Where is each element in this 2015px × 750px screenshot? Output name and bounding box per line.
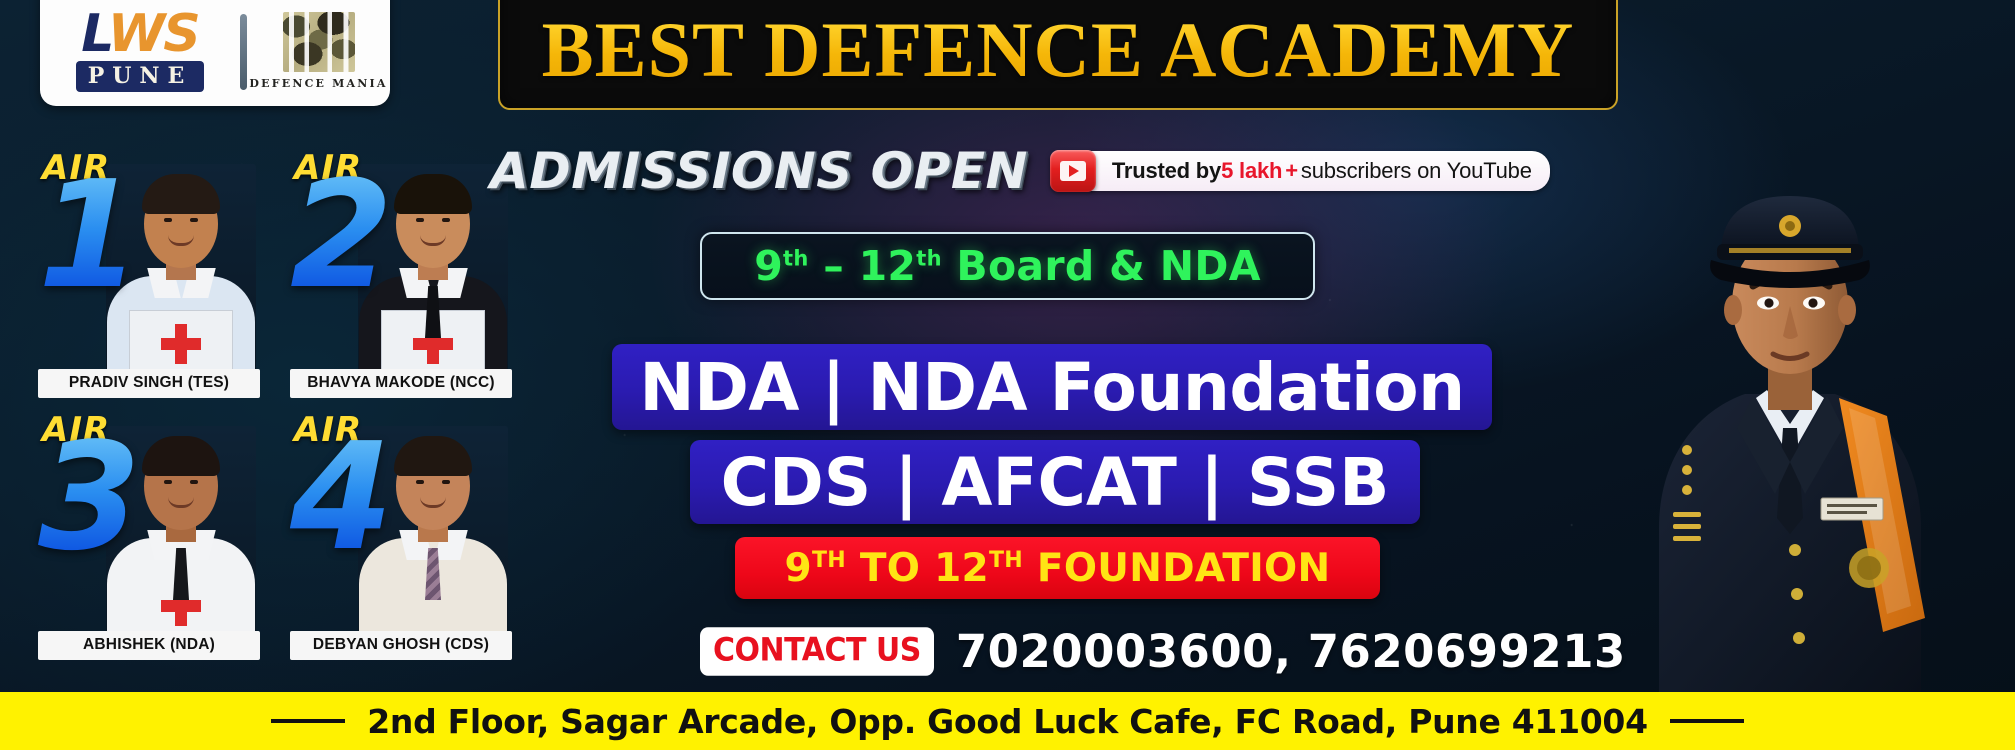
yt-suffix: subscribers on YouTube — [1301, 158, 1532, 184]
youtube-play-icon — [1050, 150, 1096, 192]
course-bar-nda-text: NDA | NDA Foundation — [639, 349, 1464, 426]
lws-city-plate: PUNE — [76, 61, 205, 92]
lws-letters-ws: WS — [108, 4, 199, 64]
foundation-grade-from-suffix: TH — [812, 548, 846, 573]
contact-us-label: CONTACT US — [700, 627, 934, 676]
topper-name: BHAVYA MAKODE (NCC) — [290, 369, 512, 398]
topper-name: DEBYAN GHOSH (CDS) — [290, 631, 512, 660]
air-rank-number: 2 — [290, 172, 393, 299]
board-nda-bar: 9th – 12th Board & NDA — [700, 232, 1315, 300]
yt-prefix: Trusted by — [1112, 158, 1221, 184]
page-title: BEST DEFENCE ACADEMY — [542, 0, 1575, 95]
defence-mania-logo: DEFENCE MANIA — [247, 0, 390, 106]
youtube-trust-badge: Trusted by 5 lakh+ subscribers on YouTub… — [1050, 148, 1550, 194]
logo-panel: LWS PUNE DEFENCE MANIA — [40, 0, 390, 106]
grade-from: 9 — [754, 242, 783, 290]
course-bar-nda: NDA | NDA Foundation — [612, 344, 1492, 430]
air-rank-card: AIR 4 DEBYAN GHOSH (CDS) — [276, 410, 514, 660]
headline-box: BEST DEFENCE ACADEMY — [498, 0, 1618, 110]
foundation-grade-from: 9 — [785, 546, 812, 591]
address-strip: 2nd Floor, Sagar Arcade, Opp. Good Luck … — [0, 692, 2015, 750]
board-nda-text: 9th – 12th Board & NDA — [754, 242, 1261, 290]
foundation-tail: FOUNDATION — [1023, 546, 1330, 591]
foundation-grade-to-suffix: TH — [989, 548, 1023, 573]
grade-to: 12 — [859, 242, 917, 290]
foundation-bar-text: 9TH TO 12TH FOUNDATION — [785, 546, 1331, 591]
grade-dash: – — [809, 242, 859, 290]
foundation-mid: TO — [846, 546, 934, 591]
cadet-officer-photo — [1625, 98, 1955, 698]
contact-row: CONTACT US 7020003600, 7620699213 — [700, 620, 1460, 682]
grade-to-suffix: th — [916, 246, 942, 270]
grade-from-suffix: th — [783, 246, 809, 270]
defence-mania-caption: DEFENCE MANIA — [249, 77, 387, 90]
advertisement-banner: LWS PUNE DEFENCE MANIA BEST DEFENCE ACAD… — [0, 0, 2015, 750]
admissions-open-headline: ADMISSIONS OPEN — [490, 142, 1028, 200]
address-dash-right — [1670, 719, 1744, 723]
air-rank-number: 4 — [290, 434, 393, 561]
contact-phone-numbers[interactable]: 7020003600, 7620699213 — [956, 625, 1626, 678]
address-text: 2nd Floor, Sagar Arcade, Opp. Good Luck … — [367, 702, 1647, 741]
lws-wordmark: LWS — [81, 10, 198, 59]
lws-letter-l: L — [81, 4, 108, 64]
air-rank-card: AIR 2 BHAVYA MAKODE (NCC) — [276, 148, 514, 398]
topper-name: ABHISHEK (NDA) — [38, 631, 260, 660]
course-bar-cds-text: CDS | AFCAT | SSB — [721, 444, 1390, 521]
air-rank-number: 1 — [38, 172, 141, 299]
logo-divider — [240, 14, 247, 90]
camouflage-dm-monogram-icon — [283, 12, 355, 72]
foundation-bar: 9TH TO 12TH FOUNDATION — [735, 537, 1380, 599]
air-rank-number: 3 — [38, 434, 141, 561]
air-rank-card: AIR 1 PRADIV SINGH (TES) — [24, 148, 262, 398]
foundation-grade-to: 12 — [934, 546, 989, 591]
youtube-badge-text: Trusted by 5 lakh+ subscribers on YouTub… — [1090, 151, 1550, 191]
topper-name: PRADIV SINGH (TES) — [38, 369, 260, 398]
topper-rank-grid: AIR 1 PRADIV SINGH (TES) AIR — [24, 148, 524, 668]
address-dash-left — [271, 719, 345, 723]
board-tail: Board & NDA — [942, 242, 1261, 290]
yt-highlight: 5 lakh — [1221, 158, 1282, 184]
air-rank-card: AIR 3 ABHISHEK (NDA) — [24, 410, 262, 660]
yt-plus: + — [1282, 158, 1301, 184]
lws-pune-logo: LWS PUNE — [40, 0, 240, 106]
course-bar-cds: CDS | AFCAT | SSB — [690, 440, 1420, 524]
admissions-row: ADMISSIONS OPEN Trusted by 5 lakh+ subsc… — [490, 140, 1630, 202]
